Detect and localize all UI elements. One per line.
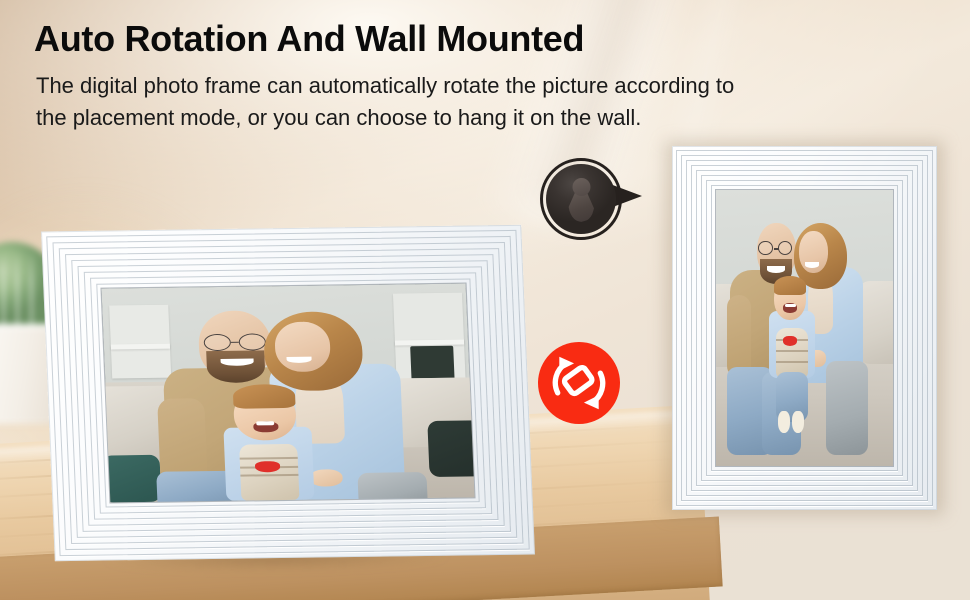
rotate-icon: [538, 342, 620, 424]
frame-screen[interactable]: [716, 190, 893, 466]
family-photo: [716, 190, 893, 466]
frame-screen[interactable]: [101, 284, 474, 503]
auto-rotate-badge: [538, 342, 620, 424]
page-title: Auto Rotation And Wall Mounted: [34, 18, 584, 60]
badge-disc: [546, 164, 616, 234]
keyhole-icon: [570, 178, 593, 222]
wall-mount-keyhole-badge: [540, 158, 622, 240]
family-photo: [101, 284, 474, 503]
product-feature-banner: Auto Rotation And Wall Mounted The digit…: [0, 0, 970, 600]
subtitle-line-2: the placement mode, or you can choose to…: [36, 104, 641, 132]
subtitle-line-1: The digital photo frame can automaticall…: [36, 72, 734, 100]
tabletop-photo-frame[interactable]: [41, 225, 535, 561]
wall-mounted-photo-frame[interactable]: [672, 146, 937, 510]
